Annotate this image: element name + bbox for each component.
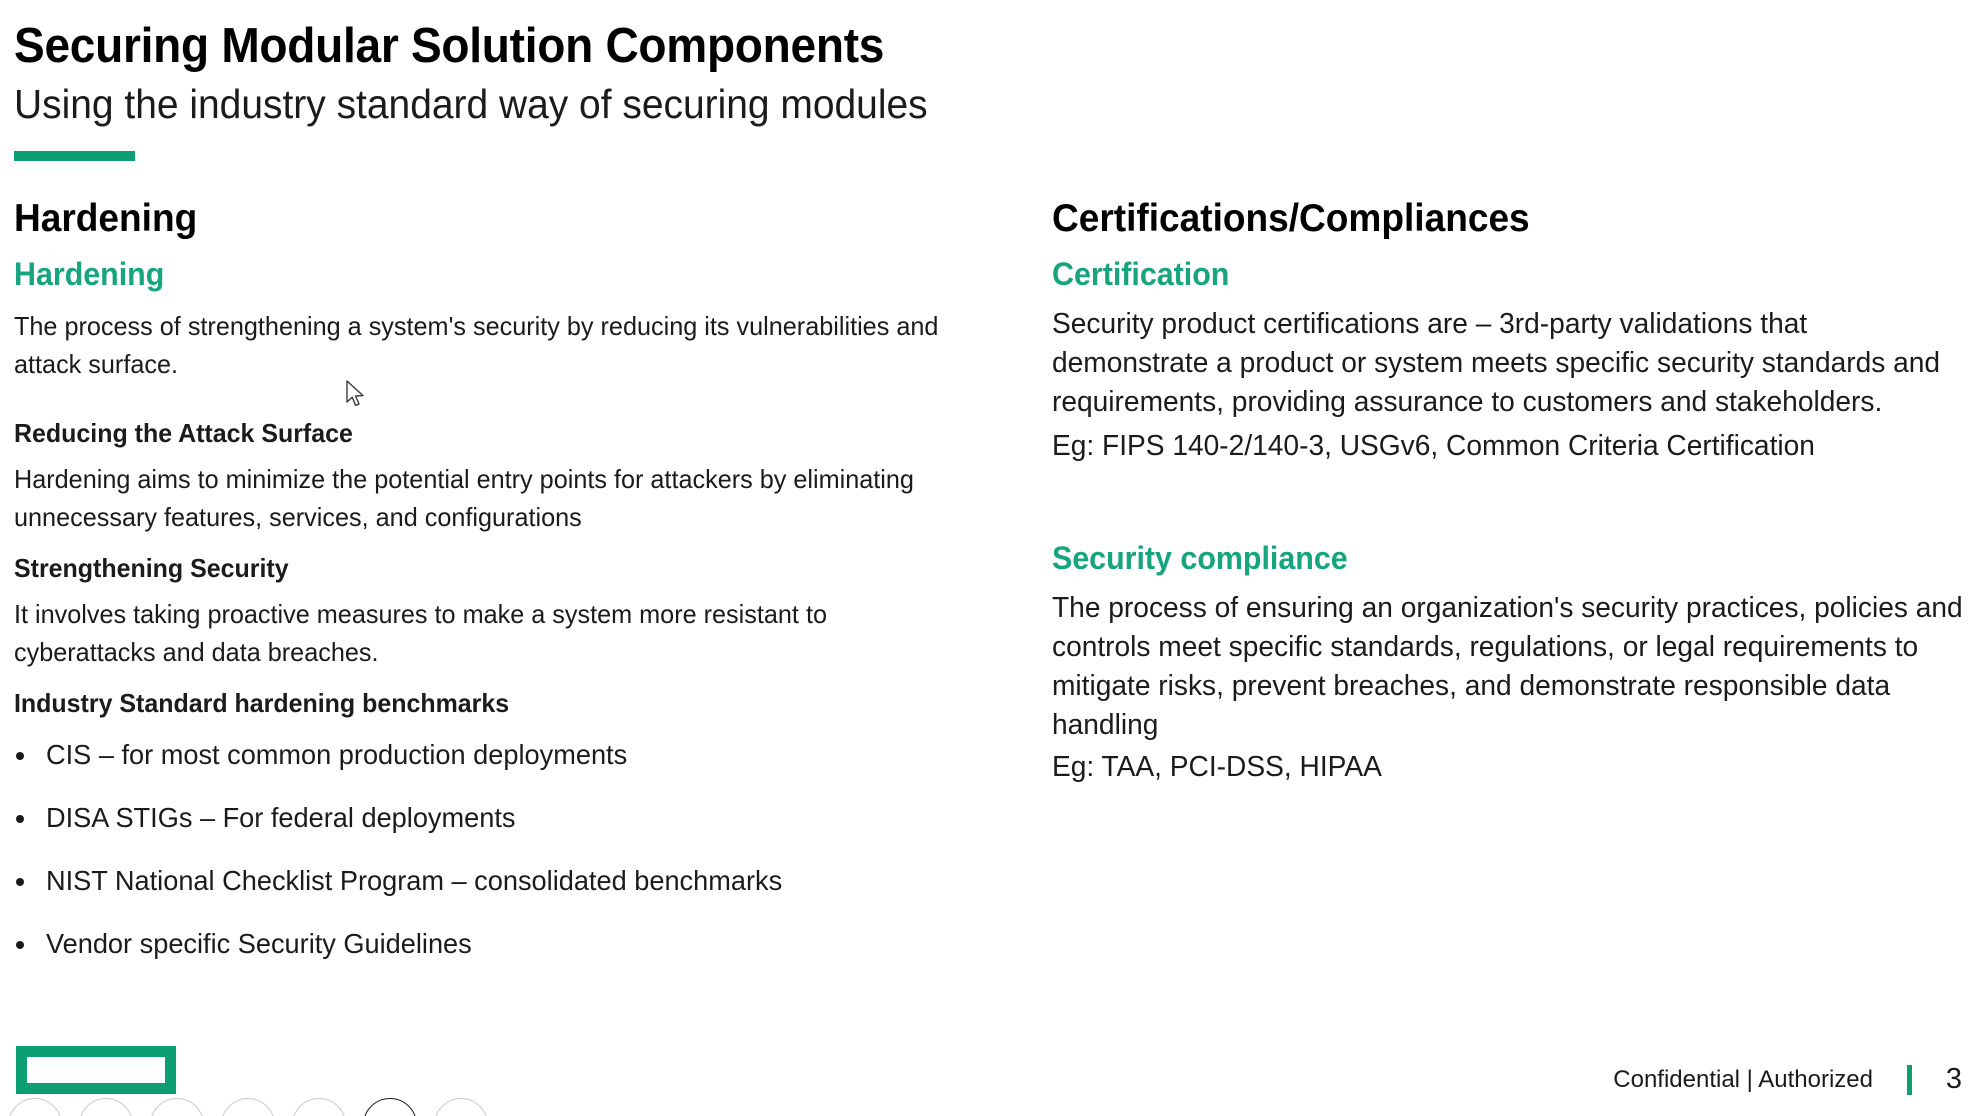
certification-example-text: Eg: FIPS 140-2/140-3, USGv6, Common Crit… — [1052, 427, 1964, 466]
slide-header: Securing Modular Solution Components Usi… — [14, 18, 1954, 161]
list-item: NIST National Checklist Program – consol… — [14, 862, 974, 900]
benchmarks-list: CIS – for most common production deploym… — [14, 736, 974, 963]
pointer-play-icon[interactable] — [8, 1098, 62, 1116]
presenter-toolbar[interactable] — [8, 1098, 488, 1116]
hardening-green-heading: Hardening — [14, 254, 926, 294]
security-compliance-example-text: Eg: TAA, PCI-DSS, HIPAA — [1052, 748, 1964, 787]
left-column-heading: Hardening — [14, 196, 926, 242]
certification-body-text: Security product certifications are – 3r… — [1052, 305, 1964, 422]
presenter-view-icon[interactable] — [150, 1098, 204, 1116]
classification-label: Confidential | Authorized — [1613, 1066, 1873, 1094]
reducing-attack-surface-text: Hardening aims to minimize the potential… — [14, 460, 945, 536]
list-item: Vendor specific Security Guidelines — [14, 925, 974, 963]
footer-separator — [1907, 1065, 1912, 1095]
bullet-dot-icon — [16, 815, 24, 823]
page-subtitle: Using the industry standard way of secur… — [14, 78, 1857, 130]
subtitles-icon[interactable] — [292, 1098, 346, 1116]
benchmarks-heading: Industry Standard hardening benchmarks — [14, 687, 936, 720]
more-options-icon[interactable] — [434, 1098, 488, 1116]
right-column: Certifications/Compliances Certification… — [1052, 196, 1980, 787]
bullet-dot-icon — [16, 941, 24, 949]
list-item-label: CIS – for most common production deploym… — [46, 736, 627, 774]
slide-canvas: Securing Modular Solution Components Usi… — [0, 0, 1980, 1116]
list-item-label: NIST National Checklist Program – consol… — [46, 862, 782, 900]
list-item-label: Vendor specific Security Guidelines — [46, 925, 472, 963]
strengthening-security-text: It involves taking proactive measures to… — [14, 595, 945, 671]
accent-bar — [14, 151, 135, 161]
list-item-label: DISA STIGs – For federal deployments — [46, 799, 515, 837]
reducing-attack-surface-heading: Reducing the Attack Surface — [14, 417, 936, 450]
strengthening-security-heading: Strengthening Security — [14, 552, 936, 585]
bullet-dot-icon — [16, 752, 24, 760]
security-compliance-green-heading: Security compliance — [1052, 538, 1945, 578]
bullet-dot-icon — [16, 878, 24, 886]
hardening-intro-text: The process of strengthening a system's … — [14, 307, 945, 383]
list-item: CIS – for most common production deploym… — [14, 736, 974, 774]
certification-green-heading: Certification — [1052, 254, 1945, 294]
page-title: Securing Modular Solution Components — [14, 18, 1838, 74]
security-compliance-body-text: The process of ensuring an organization'… — [1052, 589, 1974, 745]
footer-meta: Confidential | Authorized 3 — [1613, 1063, 1962, 1096]
right-column-heading: Certifications/Compliances — [1052, 196, 1945, 242]
page-number: 3 — [1940, 1063, 1962, 1096]
camera-icon[interactable] — [363, 1098, 417, 1116]
pen-icon[interactable] — [79, 1098, 133, 1116]
hpe-logo — [16, 1046, 176, 1094]
left-column: Hardening Hardening The process of stren… — [14, 196, 974, 988]
laser-pointer-icon[interactable] — [221, 1098, 275, 1116]
list-item: DISA STIGs – For federal deployments — [14, 799, 974, 837]
